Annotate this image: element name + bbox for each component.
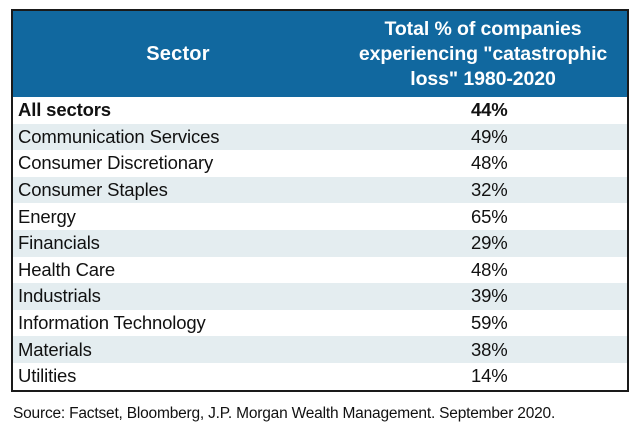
cell-total-pct: 14% [343, 365, 627, 387]
table-row: Communication Services49% [13, 124, 627, 151]
cell-sector: All sectors [13, 99, 343, 121]
source-note: Source: Factset, Bloomberg, J.P. Morgan … [13, 405, 555, 423]
column-header-total-pct: Total % of companies experiencing "catas… [343, 11, 627, 97]
cell-sector: Energy [13, 206, 343, 228]
cell-total-pct: 44% [343, 99, 627, 121]
cell-sector: Industrials [13, 285, 343, 307]
table-row: Information Technology59% [13, 310, 627, 337]
table-row: All sectors44% [13, 97, 627, 124]
cell-sector: Information Technology [13, 312, 343, 334]
cell-total-pct: 59% [343, 312, 627, 334]
catastrophic-loss-table: Sector Total % of companies experiencing… [11, 9, 629, 392]
cell-sector: Consumer Staples [13, 179, 343, 201]
cell-total-pct: 48% [343, 259, 627, 281]
cell-sector: Financials [13, 232, 343, 254]
cell-sector: Utilities [13, 365, 343, 387]
cell-total-pct: 38% [343, 339, 627, 361]
column-header-line-3: loss" 1980-2020 [410, 68, 555, 90]
cell-total-pct: 49% [343, 126, 627, 148]
table-row: Consumer Staples32% [13, 177, 627, 204]
cell-total-pct: 48% [343, 152, 627, 174]
table-row: Consumer Discretionary48% [13, 150, 627, 177]
column-header-sector: Sector [13, 11, 343, 97]
table-row: Energy65% [13, 203, 627, 230]
table-body: All sectors44%Communication Services49%C… [13, 97, 627, 390]
table-row: Utilities14% [13, 363, 627, 390]
cell-total-pct: 39% [343, 285, 627, 307]
table-row: Health Care48% [13, 257, 627, 284]
cell-total-pct: 65% [343, 206, 627, 228]
table-figure: Sector Total % of companies experiencing… [0, 0, 640, 433]
cell-sector: Health Care [13, 259, 343, 281]
table-header-row: Sector Total % of companies experiencing… [13, 11, 627, 97]
cell-sector: Materials [13, 339, 343, 361]
cell-sector: Consumer Discretionary [13, 152, 343, 174]
table-row: Industrials39% [13, 283, 627, 310]
cell-sector: Communication Services [13, 126, 343, 148]
cell-total-pct: 32% [343, 179, 627, 201]
cell-total-pct: 29% [343, 232, 627, 254]
column-header-line-2: experiencing "catastrophic [359, 43, 607, 65]
column-header-line-1: Total % of companies [385, 18, 582, 40]
table-row: Financials29% [13, 230, 627, 257]
table-row: Materials38% [13, 336, 627, 363]
